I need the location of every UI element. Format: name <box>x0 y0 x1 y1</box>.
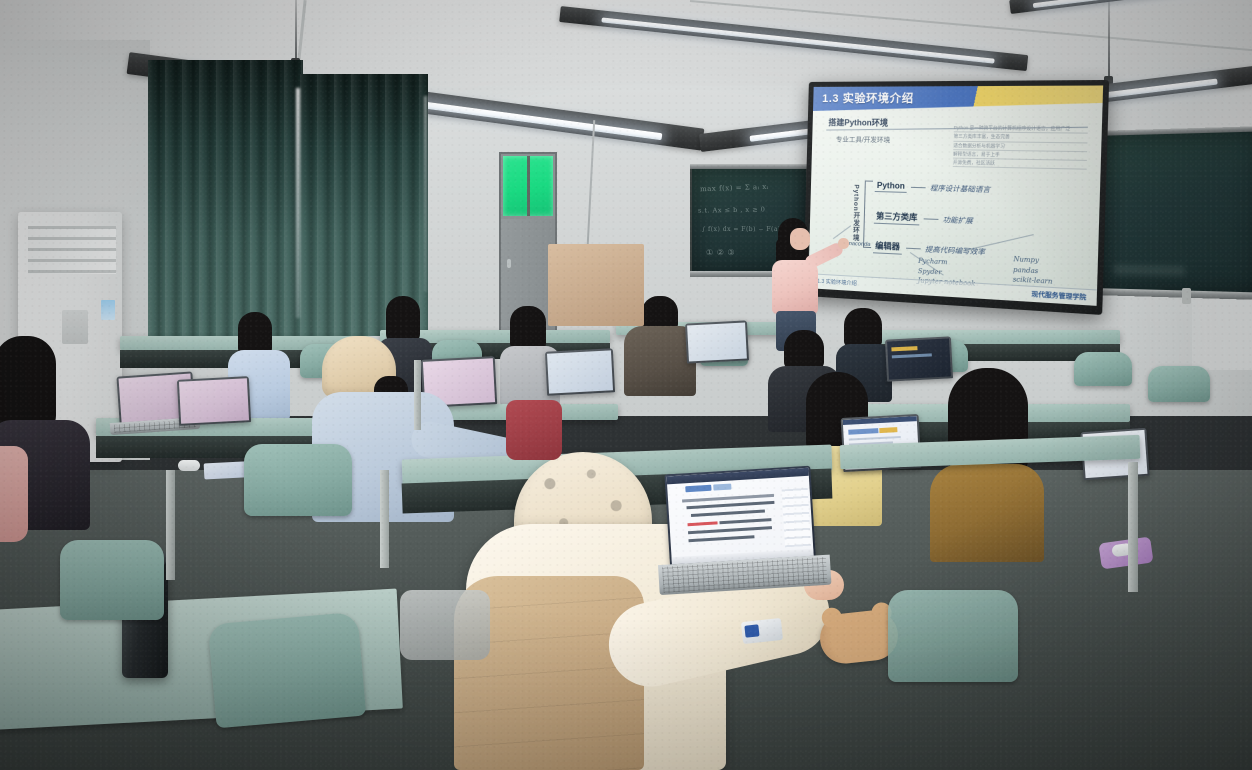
student-hair <box>784 330 824 370</box>
chalk-rail <box>690 164 808 169</box>
laptop-lid <box>664 466 815 567</box>
document-line <box>686 501 774 509</box>
document-line <box>688 535 754 542</box>
laptop-lid <box>545 348 615 395</box>
student-hair <box>642 296 678 330</box>
mindmap-value: 程序设计基础语言 <box>930 183 991 195</box>
desk-leg <box>166 470 175 580</box>
door-knob[interactable] <box>507 259 511 268</box>
instructor-face <box>790 228 810 250</box>
document-line <box>688 526 772 534</box>
document-line-highlight <box>687 521 717 526</box>
mindmap-connector <box>924 218 939 220</box>
laptop-screen <box>667 468 814 565</box>
bag-on-floor <box>400 590 490 660</box>
transom-mullion <box>527 156 530 216</box>
slide-axis-label: Python开发环境 <box>849 184 861 241</box>
light-rod <box>1108 0 1110 80</box>
curtain-light-gap <box>424 96 427 292</box>
presentation-slide: 1.3 实验环境介绍 搭建Python环境 专业工具/开发环境 Python 是… <box>808 85 1103 305</box>
mindmap-key: 第三方类库 <box>874 210 920 225</box>
laptop[interactable] <box>685 320 749 363</box>
mindmap-value: 功能扩展 <box>943 214 973 226</box>
screen-content <box>879 427 897 433</box>
slide-brace <box>863 180 873 248</box>
mindmap-branch <box>963 234 1034 251</box>
student-scarf <box>0 446 28 542</box>
mindmap-row: Python 程序设计基础语言 <box>875 181 991 196</box>
student-jacket <box>930 464 1044 562</box>
chalk-writing: s.t. Ax ≤ b , x ≥ 0 <box>698 205 765 214</box>
mindmap-connector <box>906 248 921 250</box>
browser-tab[interactable] <box>713 484 731 491</box>
laptop-lid <box>685 320 749 363</box>
chalk-writing: ① ② ③ <box>706 248 735 257</box>
desk-leg <box>414 360 421 430</box>
chair-back-foreground <box>888 590 1018 682</box>
mindmap-connector <box>911 187 926 188</box>
ac-vent-slats <box>28 226 116 274</box>
laptop-lid <box>177 376 251 426</box>
screen-bezel: 1.3 实验环境介绍 搭建Python环境 专业工具/开发环境 Python 是… <box>803 80 1109 315</box>
slide-fine-print: Python 是一种跨平台的计算机程序设计语言，应用广泛 第三方类库丰富，生态完… <box>953 124 1088 170</box>
slide-subtitle: 搭建Python环境 <box>828 117 888 129</box>
laptop[interactable] <box>177 376 251 426</box>
sidebar-panel <box>782 488 811 547</box>
screen-content <box>848 428 878 435</box>
student-hair <box>0 336 56 432</box>
chair-back <box>1074 352 1132 386</box>
student-hair <box>844 308 882 348</box>
door-transom-window <box>503 156 553 216</box>
projection-screen: 1.3 实验环境介绍 搭建Python环境 专业工具/开发环境 Python 是… <box>803 80 1109 315</box>
chair-back-foreground <box>244 444 352 516</box>
mindmap-key: Python <box>875 181 907 193</box>
phone-sticker <box>744 624 759 637</box>
browser-tab[interactable] <box>685 485 711 493</box>
chair-back-foreground <box>208 612 366 729</box>
slide-title: 1.3 实验环境介绍 <box>822 90 914 107</box>
slide-note: 专业工具/开发环境 <box>836 133 891 144</box>
laptop-screen <box>179 378 249 424</box>
footer-right-text: 现代服务管理学院 <box>1031 289 1086 302</box>
laptop-screen <box>547 350 613 393</box>
mindmap-value: 提高代码编写效率 <box>925 244 985 257</box>
instructor-hand <box>838 238 849 249</box>
chalk-smudge <box>1114 264 1185 276</box>
foreground-laptop[interactable] <box>664 466 817 595</box>
laptop[interactable] <box>545 348 615 395</box>
screen-content <box>849 436 901 441</box>
instructor <box>762 218 842 348</box>
chair-back <box>1148 366 1210 402</box>
desk-leg <box>380 470 389 568</box>
ac-brand-sticker <box>101 300 115 320</box>
mindmap-key: 编辑器 <box>873 240 902 255</box>
chair-back-foreground <box>60 540 164 620</box>
mindmap-row: 第三方类库 功能扩展 <box>874 210 973 227</box>
cardboard-box <box>548 244 644 326</box>
curtain-light-gap <box>296 88 300 318</box>
document-line <box>719 518 771 524</box>
chalk-writing: max f(x) = Σ aᵢ xᵢ <box>700 183 769 193</box>
library-leaf-list: Numpy pandas scikit-learn <box>1013 255 1054 288</box>
laptop-screen <box>687 323 747 362</box>
computer-mouse[interactable] <box>178 460 200 471</box>
chalkboard-right <box>1092 127 1252 297</box>
classroom-photo: max f(x) = Σ aᵢ xᵢ s.t. Ax ≤ b , x ≥ 0 ∫… <box>0 0 1252 770</box>
document-line <box>691 510 765 517</box>
fine-print-line: 开源免费，社区活跃 <box>953 159 1087 170</box>
backpack <box>506 400 562 460</box>
light-rod <box>295 0 297 62</box>
desk-leg <box>1128 462 1138 592</box>
phone-on-desk[interactable] <box>741 618 783 644</box>
chalk-holder <box>1182 288 1191 304</box>
screen-window-bar <box>843 416 917 425</box>
window-curtain-left <box>148 60 303 350</box>
